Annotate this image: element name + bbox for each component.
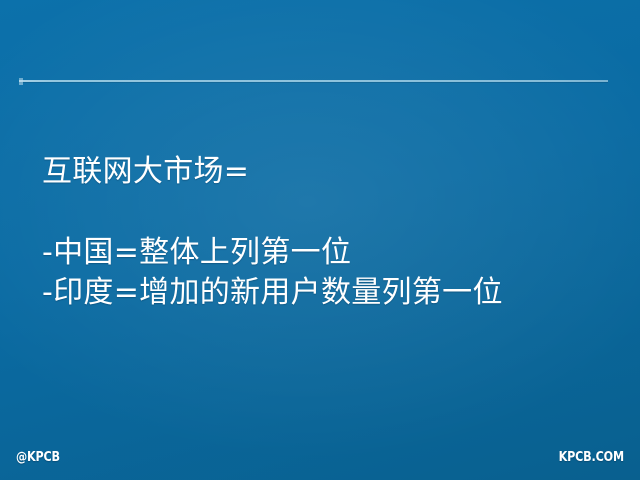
- slide-footer: @KPCB KPCB.COM: [0, 450, 640, 466]
- footer-social-handle: @KPCB: [16, 450, 60, 466]
- slide-body-copy: 互联网大市场= -中国=整体上列第一位 -印度=增加的新用户数量列第一位: [42, 152, 602, 313]
- body-bullet-india: -印度=增加的新用户数量列第一位: [42, 273, 602, 313]
- header-divider-left-cap: [19, 78, 23, 85]
- slide-canvas: 互联网大市场= -中国=整体上列第一位 -印度=增加的新用户数量列第一位 @KP…: [0, 0, 640, 480]
- footer-website-url: KPCB.COM: [559, 450, 624, 466]
- body-bullet-china: -中国=整体上列第一位: [42, 233, 602, 273]
- header-divider-rule: [19, 80, 608, 82]
- body-heading-line: 互联网大市场=: [42, 152, 602, 192]
